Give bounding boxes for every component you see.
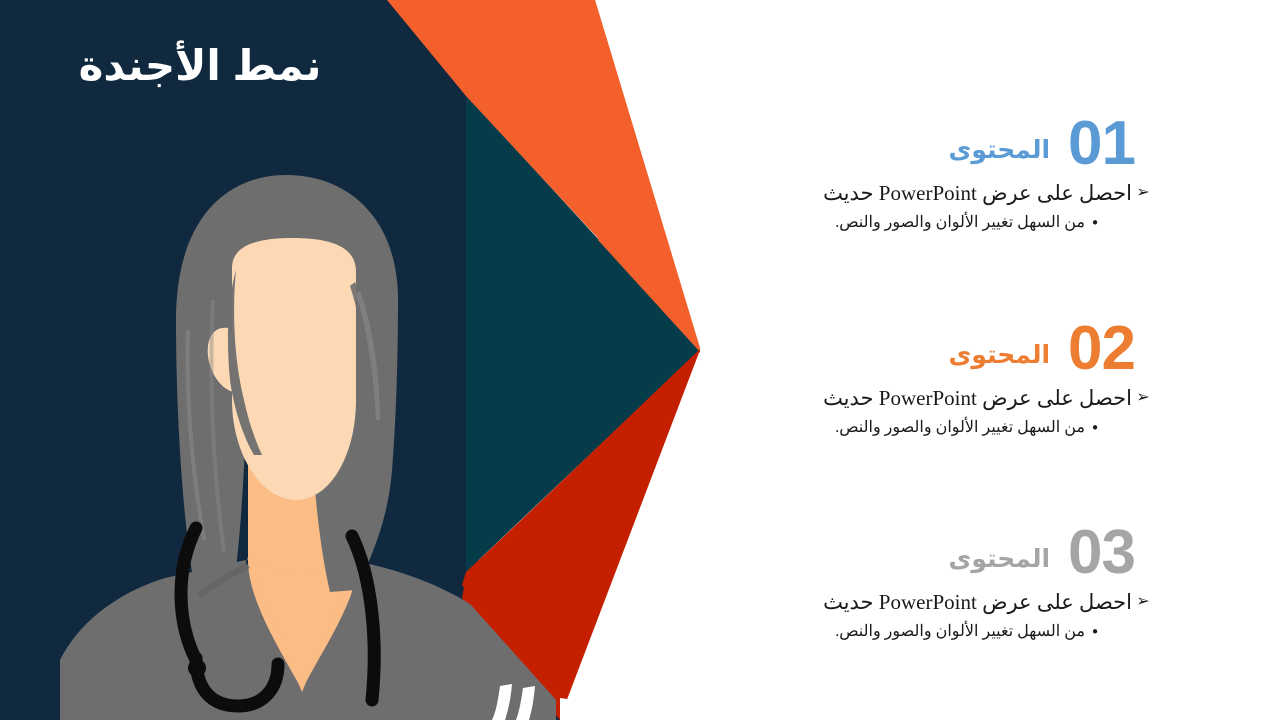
agenda-item-03[interactable]: 03 المحتوى ➢ احصل على عرض PowerPoint حدي… bbox=[690, 517, 1160, 644]
bullet-item: • من السهل تغيير الألوان والصور والنص. bbox=[690, 211, 1160, 235]
bullet-text: من السهل تغيير الألوان والصور والنص. bbox=[835, 416, 1085, 440]
dot-bullet-icon: • bbox=[1085, 416, 1105, 440]
slide-artwork bbox=[0, 0, 720, 720]
agenda-item-02[interactable]: 02 المحتوى ➢ احصل على عرض PowerPoint حدي… bbox=[690, 313, 1160, 440]
arrow-bullet-icon: ➢ bbox=[1132, 587, 1154, 614]
bullet-text: احصل على عرض PowerPoint حديث bbox=[823, 587, 1132, 617]
bullet-item: • من السهل تغيير الألوان والصور والنص. bbox=[690, 620, 1160, 644]
slide-canvas: نمط الأجندة 01 المحتوى ➢ احصل على عرض Po… bbox=[0, 0, 1280, 720]
dot-bullet-icon: • bbox=[1085, 620, 1105, 644]
bullet-text: احصل على عرض PowerPoint حديث bbox=[823, 178, 1132, 208]
agenda-heading-02: المحتوى bbox=[949, 340, 1051, 370]
agenda-item-01[interactable]: 01 المحتوى ➢ احصل على عرض PowerPoint حدي… bbox=[690, 108, 1160, 235]
agenda-list: 01 المحتوى ➢ احصل على عرض PowerPoint حدي… bbox=[690, 0, 1160, 720]
bullet-text: احصل على عرض PowerPoint حديث bbox=[823, 383, 1132, 413]
agenda-heading-01: المحتوى bbox=[949, 135, 1051, 165]
agenda-number-02: 02 bbox=[1068, 320, 1135, 379]
arrow-bullet-icon: ➢ bbox=[1132, 383, 1154, 410]
bullet-item: ➢ احصل على عرض PowerPoint حديث bbox=[690, 587, 1160, 617]
agenda-heading-03: المحتوى bbox=[949, 544, 1051, 574]
dot-bullet-icon: • bbox=[1085, 211, 1105, 235]
bullet-item: ➢ احصل على عرض PowerPoint حديث bbox=[690, 383, 1160, 413]
bullet-text: من السهل تغيير الألوان والصور والنص. bbox=[835, 211, 1085, 235]
bullet-item: • من السهل تغيير الألوان والصور والنص. bbox=[690, 416, 1160, 440]
agenda-item-01-bullets: ➢ احصل على عرض PowerPoint حديث • من السه… bbox=[690, 178, 1160, 235]
agenda-item-03-bullets: ➢ احصل على عرض PowerPoint حديث • من السه… bbox=[690, 587, 1160, 644]
agenda-item-01-header: 01 المحتوى bbox=[690, 108, 1160, 174]
agenda-number-01: 01 bbox=[1068, 115, 1135, 174]
page-title: نمط الأجندة bbox=[0, 42, 400, 90]
stethoscope-chestpiece bbox=[188, 659, 206, 677]
agenda-number-03: 03 bbox=[1068, 524, 1135, 583]
bullet-text: من السهل تغيير الألوان والصور والنص. bbox=[835, 620, 1085, 644]
arrow-bullet-icon: ➢ bbox=[1132, 178, 1154, 205]
agenda-item-02-bullets: ➢ احصل على عرض PowerPoint حديث • من السه… bbox=[690, 383, 1160, 440]
bullet-item: ➢ احصل على عرض PowerPoint حديث bbox=[690, 178, 1160, 208]
agenda-item-03-header: 03 المحتوى bbox=[690, 517, 1160, 583]
agenda-item-02-header: 02 المحتوى bbox=[690, 313, 1160, 379]
